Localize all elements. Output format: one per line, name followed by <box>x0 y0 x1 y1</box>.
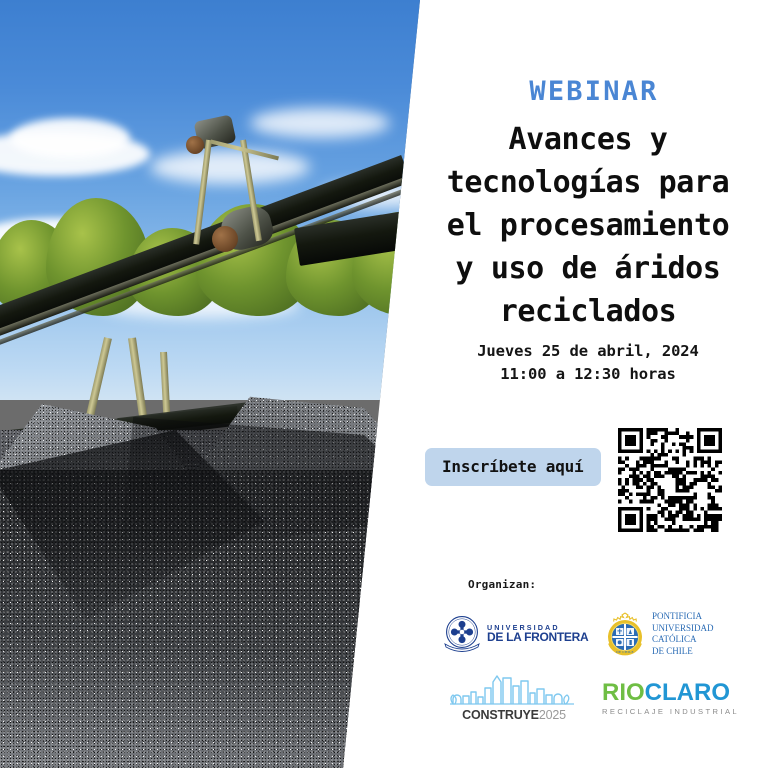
puc-line-3: CATÓLICA <box>652 634 714 646</box>
puc-wordmark: PONTIFICIA UNIVERSIDAD CATÓLICA DE CHILE <box>652 611 714 657</box>
construye-year: 2025 <box>539 708 566 722</box>
title-line: Avances y <box>408 118 768 161</box>
rioclaro-part-rio: RIO <box>602 679 645 706</box>
puc-crest-icon: DE CHILE <box>604 611 646 657</box>
rioclaro-tagline: RECICLAJE INDUSTRIAL <box>602 707 742 716</box>
cloud <box>250 108 390 138</box>
puc-line-4: DE CHILE <box>652 646 714 658</box>
ufro-wordmark: UNIVERSIDAD DE LA FRONTERA <box>487 624 588 644</box>
ufro-line-2: DE LA FRONTERA <box>487 631 588 644</box>
title-line: tecnologías para <box>408 161 768 204</box>
rioclaro-part-claro: CLARO <box>645 679 730 706</box>
event-date: Jueves 25 de abril, 2024 <box>408 340 768 363</box>
construye-name: CONSTRUYE <box>462 708 539 722</box>
logo-puc: DE CHILE PONTIFICIA UNIVERSIDAD CATÓLICA… <box>604 611 754 657</box>
organizer-logo-row-1: UNIVERSIDAD DE LA FRONTERA <box>420 605 768 663</box>
cloud <box>10 118 130 158</box>
city-skyline-icon <box>450 675 578 705</box>
rioclaro-wordmark: RIOCLARO <box>602 681 742 705</box>
title-line: el procesamiento <box>408 204 768 247</box>
ufro-crest-icon <box>442 614 482 654</box>
event-datetime: Jueves 25 de abril, 2024 11:00 a 12:30 h… <box>408 340 768 386</box>
logo-ufro: UNIVERSIDAD DE LA FRONTERA <box>442 614 590 654</box>
organizers-label: Organizan: <box>468 578 536 591</box>
logo-rioclaro: RIOCLARO RECICLAJE INDUSTRIAL <box>602 681 752 716</box>
hero-photo <box>0 0 430 768</box>
construye-wordmark: CONSTRUYE2025 <box>450 706 578 722</box>
logo-construye2025: CONSTRUYE2025 <box>450 675 590 722</box>
qr-code-canvas[interactable] <box>618 428 722 532</box>
organizer-logo-row-2: CONSTRUYE2025 RIOCLARO RECICLAJE INDUSTR… <box>420 672 768 724</box>
title-line: reciclados <box>408 290 768 333</box>
puc-line-2: UNIVERSIDAD <box>652 623 714 635</box>
content-panel: WEBINAR Avances y tecnologías para el pr… <box>420 0 768 768</box>
title-line: y uso de áridos <box>408 247 768 290</box>
page-title: Avances y tecnologías para el procesamie… <box>408 118 768 333</box>
webinar-kicker: WEBINAR <box>420 76 768 107</box>
svg-text:DE CHILE: DE CHILE <box>616 650 634 654</box>
register-button[interactable]: Inscríbete aquí <box>425 448 601 486</box>
pile-shadow <box>120 408 430 558</box>
puc-line-1: PONTIFICIA <box>652 611 714 623</box>
webinar-poster: WEBINAR Avances y tecnologías para el pr… <box>0 0 768 768</box>
event-time: 11:00 a 12:30 horas <box>408 363 768 386</box>
qr-code[interactable] <box>618 428 722 532</box>
